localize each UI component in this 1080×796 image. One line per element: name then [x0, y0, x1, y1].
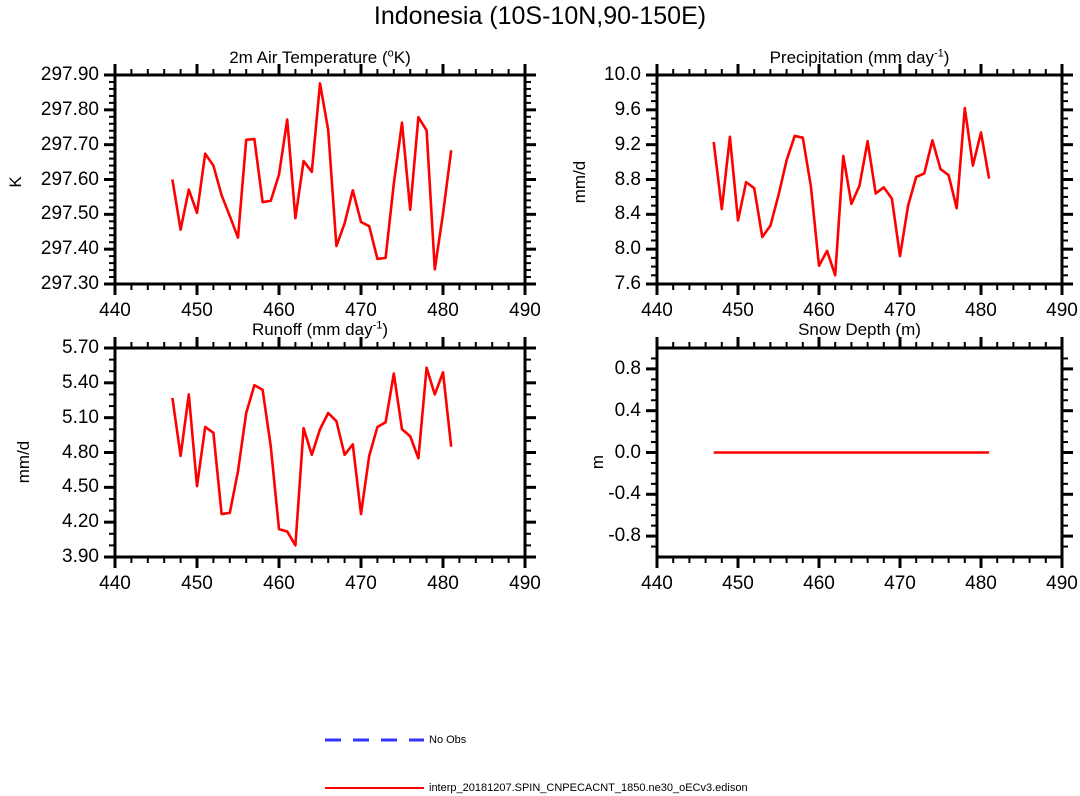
panel-air-temperature: 2m Air Temperature (oK) K [0, 0, 540, 320]
y-tick-label: 297.80 [0, 100, 99, 119]
y-tick-label: 7.6 [531, 274, 641, 293]
x-tick-label: 470 [321, 301, 401, 320]
x-tick-label: 480 [403, 301, 483, 320]
y-tick-label: 297.50 [0, 204, 99, 223]
y-tick-label: 297.40 [0, 239, 99, 258]
plot-area-precipitation [540, 0, 1080, 320]
x-tick-label: 450 [698, 574, 778, 593]
y-tick-label: 4.20 [0, 512, 99, 531]
legend: No Obs interp_20181207.SPIN_CNPECACNT_18… [0, 700, 1080, 796]
data-series-line [714, 108, 989, 275]
y-tick-label: 8.8 [531, 170, 641, 189]
x-tick-label: 440 [617, 574, 697, 593]
x-tick-label: 460 [239, 301, 319, 320]
x-tick-label: 490 [1022, 301, 1080, 320]
legend-label-no-obs: No Obs [429, 734, 466, 746]
y-tick-label: 9.2 [531, 135, 641, 154]
y-tick-label: 9.6 [531, 100, 641, 119]
x-tick-label: 480 [941, 301, 1021, 320]
y-tick-label: 4.80 [0, 443, 99, 462]
x-tick-label: 470 [860, 301, 940, 320]
x-tick-label: 460 [779, 301, 859, 320]
y-tick-label: 5.40 [0, 373, 99, 392]
y-tick-label: 8.4 [531, 204, 641, 223]
y-tick-label: 8.0 [531, 239, 641, 258]
data-series-line [172, 83, 451, 269]
x-tick-label: 440 [617, 301, 697, 320]
y-tick-label: 297.60 [0, 170, 99, 189]
x-tick-label: 440 [75, 301, 155, 320]
x-tick-label: 460 [779, 574, 859, 593]
panel-precipitation: Precipitation (mm day-1) mm/d [540, 0, 1080, 320]
y-tick-label: 0.8 [531, 359, 641, 378]
x-tick-label: 440 [75, 574, 155, 593]
legend-label-model: interp_20181207.SPIN_CNPECACNT_1850.ne30… [429, 782, 748, 794]
x-tick-label: 450 [157, 301, 237, 320]
x-tick-label: 490 [1022, 574, 1080, 593]
x-tick-label: 470 [321, 574, 401, 593]
x-tick-label: 490 [485, 574, 565, 593]
y-tick-label: 5.10 [0, 408, 99, 427]
y-tick-label: 10.0 [531, 65, 641, 84]
y-tick-label: 5.70 [0, 338, 99, 357]
y-tick-label: 297.70 [0, 135, 99, 154]
x-tick-label: 450 [157, 574, 237, 593]
y-tick-label: 297.90 [0, 65, 99, 84]
data-series-line [172, 368, 451, 546]
y-tick-label: -0.4 [531, 484, 641, 503]
x-tick-label: 480 [941, 574, 1021, 593]
x-tick-label: 490 [485, 301, 565, 320]
figure-root: Indonesia (10S-10N,90-150E) 2m Air Tempe… [0, 0, 1080, 796]
x-tick-label: 450 [698, 301, 778, 320]
plot-area-air-temperature [0, 0, 540, 320]
x-tick-label: 460 [239, 574, 319, 593]
x-tick-label: 470 [860, 574, 940, 593]
y-tick-label: 297.30 [0, 274, 99, 293]
y-tick-label: 3.90 [0, 547, 99, 566]
y-tick-label: 0.0 [531, 443, 641, 462]
y-tick-label: -0.8 [531, 526, 641, 545]
y-tick-label: 0.4 [531, 401, 641, 420]
y-tick-label: 4.50 [0, 477, 99, 496]
x-tick-label: 480 [403, 574, 483, 593]
